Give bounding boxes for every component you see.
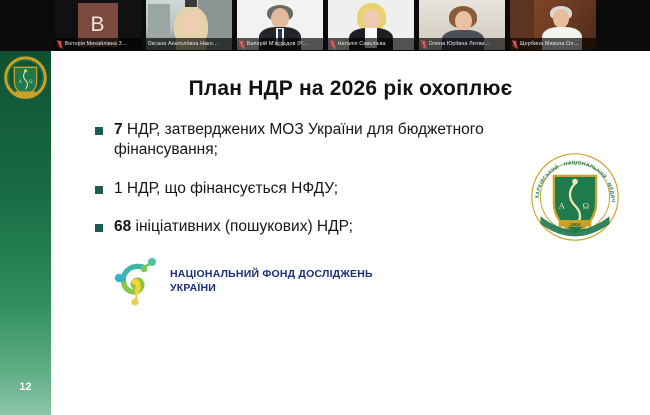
list-item: 1 НДР, що фінансується НФДУ;	[95, 179, 555, 199]
microphone-muted-icon	[239, 40, 245, 49]
svg-text:1804: 1804	[570, 222, 581, 228]
participant-nameplate: Вікторія Михайлівна З…	[55, 38, 141, 50]
bullet-list: 7 НДР, затверджених МОЗ України для бюдж…	[95, 120, 555, 256]
slide-title: План НДР на 2026 рік охоплює	[51, 77, 650, 101]
participant-nameplate: Наталія Савєлієва	[328, 38, 414, 50]
bullet-square-icon	[95, 224, 103, 232]
screen-root: В Вікторія Михайлівна З… Оксана Ан	[0, 0, 650, 415]
nrfu-line-2: УКРАЇНИ	[170, 282, 216, 294]
slide-number: 12	[0, 381, 51, 393]
participant-tile-active-speaker[interactable]: Оксана Анатоліївна Нако…	[146, 0, 232, 50]
bullet-rest: НДР, затверджених МОЗ України для бюджет…	[114, 121, 484, 158]
participant-tile[interactable]: Валерій М'ясоєдов (Р…	[237, 0, 323, 50]
bullet-count: 1	[114, 180, 123, 197]
bullet-rest: НДР, що фінансується НФДУ;	[123, 180, 338, 197]
nrfu-line-1: НАЦІОНАЛЬНИЙ ФОНД ДОСЛІДЖЕНЬ	[170, 268, 373, 280]
microphone-muted-icon	[57, 40, 63, 49]
list-item: 7 НДР, затверджених МОЗ України для бюдж…	[95, 120, 555, 161]
university-crest-icon: Α Ω	[4, 56, 47, 101]
nrfu-molecule-icon	[113, 258, 161, 306]
bullet-text: 68 ініціативних (пошукових) НДР;	[114, 217, 555, 237]
participant-name: Оксана Анатоліївна Нако…	[148, 38, 230, 50]
bullet-count: 68	[114, 218, 131, 235]
bullet-square-icon	[95, 186, 103, 194]
bullet-text: 7 НДР, затверджених МОЗ України для бюдж…	[114, 120, 555, 161]
bullet-rest: ініціативних (пошукових) НДР;	[131, 218, 353, 235]
microphone-muted-icon	[330, 40, 336, 49]
participant-name: Щербина Микола Ол…	[520, 38, 594, 50]
bullet-square-icon	[95, 127, 103, 135]
svg-text:Ω: Ω	[583, 201, 589, 211]
participant-tile[interactable]: Наталія Савєлієва	[328, 0, 414, 50]
participant-nameplate: Валерій М'ясоєдов (Р…	[237, 38, 323, 50]
nrfu-logo: НАЦІОНАЛЬНИЙ ФОНД ДОСЛІДЖЕНЬ УКРАЇНИ	[113, 258, 373, 306]
svg-text:Α: Α	[19, 80, 23, 85]
participant-name: Наталія Савєлієва	[338, 38, 412, 50]
slide-content: План НДР на 2026 рік охоплює 7 НДР, затв…	[51, 51, 650, 415]
participant-nameplate: Щербина Микола Ол…	[510, 38, 596, 50]
svg-text:Ω: Ω	[29, 80, 33, 85]
nrfu-logo-text: НАЦІОНАЛЬНИЙ ФОНД ДОСЛІДЖЕНЬ УКРАЇНИ	[170, 268, 373, 296]
participant-tile[interactable]: В Вікторія Михайлівна З…	[55, 0, 141, 50]
slide-sidebar: Α Ω 12	[0, 51, 51, 415]
shared-slide: Α Ω 12 План НДР на 2026 рік охоплює 7 НД…	[0, 51, 650, 415]
participant-name: Вікторія Михайлівна З…	[65, 38, 139, 50]
university-crest-icon: ХАРКІВСЬКИЙ · НАЦІОНАЛЬНИЙ · МЕДИЧНИЙ · …	[527, 149, 623, 245]
participant-name: Олена Юріївна Литви…	[429, 38, 503, 50]
participant-tile[interactable]: Олена Юріївна Литви…	[419, 0, 505, 50]
participant-nameplate: Оксана Анатоліївна Нако…	[146, 38, 232, 50]
participant-name: Валерій М'ясоєдов (Р…	[247, 38, 321, 50]
svg-text:Α: Α	[559, 201, 566, 211]
participant-nameplate: Олена Юріївна Литви…	[419, 38, 505, 50]
bullet-text: 1 НДР, що фінансується НФДУ;	[114, 179, 555, 199]
video-filmstrip: В Вікторія Михайлівна З… Оксана Ан	[0, 0, 650, 51]
list-item: 68 ініціативних (пошукових) НДР;	[95, 217, 555, 237]
bullet-count: 7	[114, 121, 123, 138]
microphone-muted-icon	[512, 40, 518, 49]
participant-tile[interactable]: Щербина Микола Ол…	[510, 0, 596, 50]
microphone-muted-icon	[421, 40, 427, 49]
